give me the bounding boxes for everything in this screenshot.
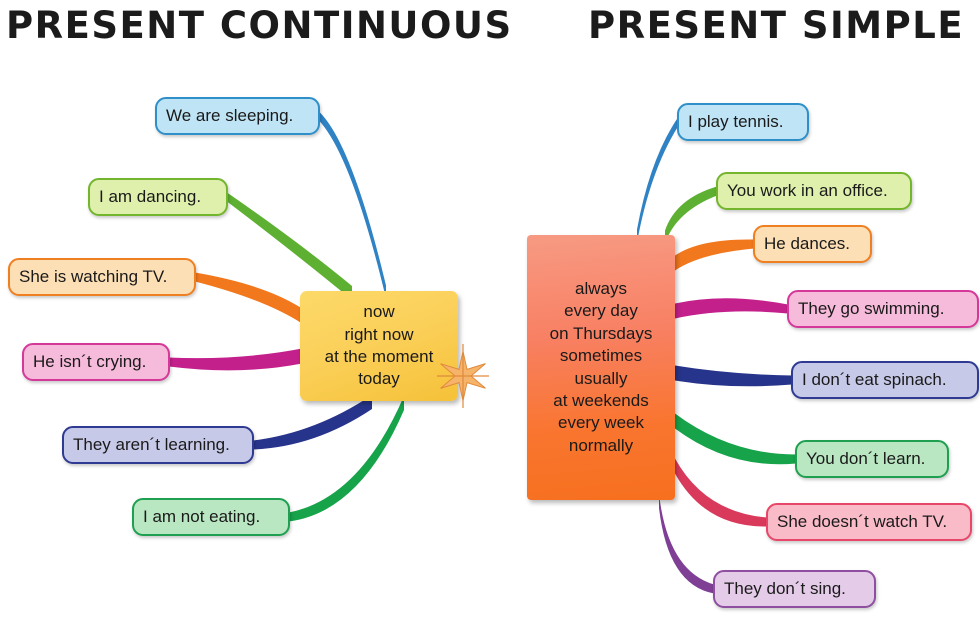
statement-text: He dances.: [764, 234, 850, 254]
statement-box[interactable]: They go swimming.: [787, 290, 979, 328]
statement-text: They go swimming.: [798, 299, 944, 319]
statement-text: I play tennis.: [688, 112, 783, 132]
connector-branch: [319, 112, 386, 299]
statement-text: You don´t learn.: [806, 449, 925, 469]
statement-text: They aren´t learning.: [73, 435, 230, 455]
statement-box[interactable]: You work in an office.: [716, 172, 912, 210]
mind-map-diagram: PRESENT CONTINUOUS PRESENT SIMPLE nowrig…: [0, 0, 980, 635]
statement-text: He isn´t crying.: [33, 352, 146, 372]
statement-text: I am not eating.: [143, 507, 260, 527]
statement-text: I don´t eat spinach.: [802, 370, 947, 390]
connector-branch: [675, 239, 754, 270]
statement-text: I am dancing.: [99, 187, 201, 207]
hub-line: always: [575, 278, 627, 300]
statement-box[interactable]: I don´t eat spinach.: [791, 361, 979, 399]
hub-line: every day: [564, 300, 638, 322]
connector-branch: [659, 494, 714, 594]
statement-text: She doesn´t watch TV.: [777, 512, 947, 532]
page-title-present-simple: PRESENT SIMPLE: [588, 4, 964, 47]
page-title-present-continuous: PRESENT CONTINUOUS: [6, 4, 513, 47]
hub-line: on Thursdays: [550, 323, 653, 345]
statement-box[interactable]: You don´t learn.: [795, 440, 949, 478]
statement-box[interactable]: She doesn´t watch TV.: [766, 503, 972, 541]
connector-branch: [675, 414, 796, 465]
statement-box[interactable]: I am not eating.: [132, 498, 290, 536]
statement-text: You work in an office.: [727, 181, 888, 201]
statement-text: She is watching TV.: [19, 267, 167, 287]
present-simple-frequency-expressions[interactable]: alwaysevery dayon Thursdayssometimesusua…: [527, 235, 675, 500]
statement-box[interactable]: He isn´t crying.: [22, 343, 170, 381]
hub-line: normally: [569, 435, 633, 457]
statement-box[interactable]: They aren´t learning.: [62, 426, 254, 464]
connector-branch: [195, 273, 302, 324]
connector-branch: [675, 366, 792, 387]
hub-line: today: [358, 368, 400, 390]
statement-box[interactable]: I am dancing.: [88, 178, 228, 216]
connector-branch: [169, 349, 302, 371]
connector-branch: [675, 459, 767, 527]
connector-branch: [253, 395, 372, 450]
statement-box[interactable]: He dances.: [753, 225, 872, 263]
hub-line: at the moment: [325, 346, 434, 368]
connector-branch: [637, 118, 678, 243]
connector-branch: [227, 193, 352, 301]
statement-text: They don´t sing.: [724, 579, 846, 599]
statement-text: We are sleeping.: [166, 106, 293, 126]
hub-line: right now: [345, 324, 414, 346]
connector-branch: [289, 396, 404, 522]
hub-line: every week: [558, 412, 644, 434]
connector-branch: [675, 298, 788, 318]
statement-box[interactable]: They don´t sing.: [713, 570, 876, 608]
hub-line: sometimes: [560, 345, 642, 367]
statement-box[interactable]: I play tennis.: [677, 103, 809, 141]
statement-box[interactable]: She is watching TV.: [8, 258, 196, 296]
statement-box[interactable]: We are sleeping.: [155, 97, 320, 135]
hub-line: at weekends: [553, 390, 648, 412]
hub-line: now: [363, 301, 394, 323]
hub-line: usually: [575, 368, 628, 390]
present-continuous-time-expressions[interactable]: nowright nowat the momenttoday: [300, 291, 458, 401]
